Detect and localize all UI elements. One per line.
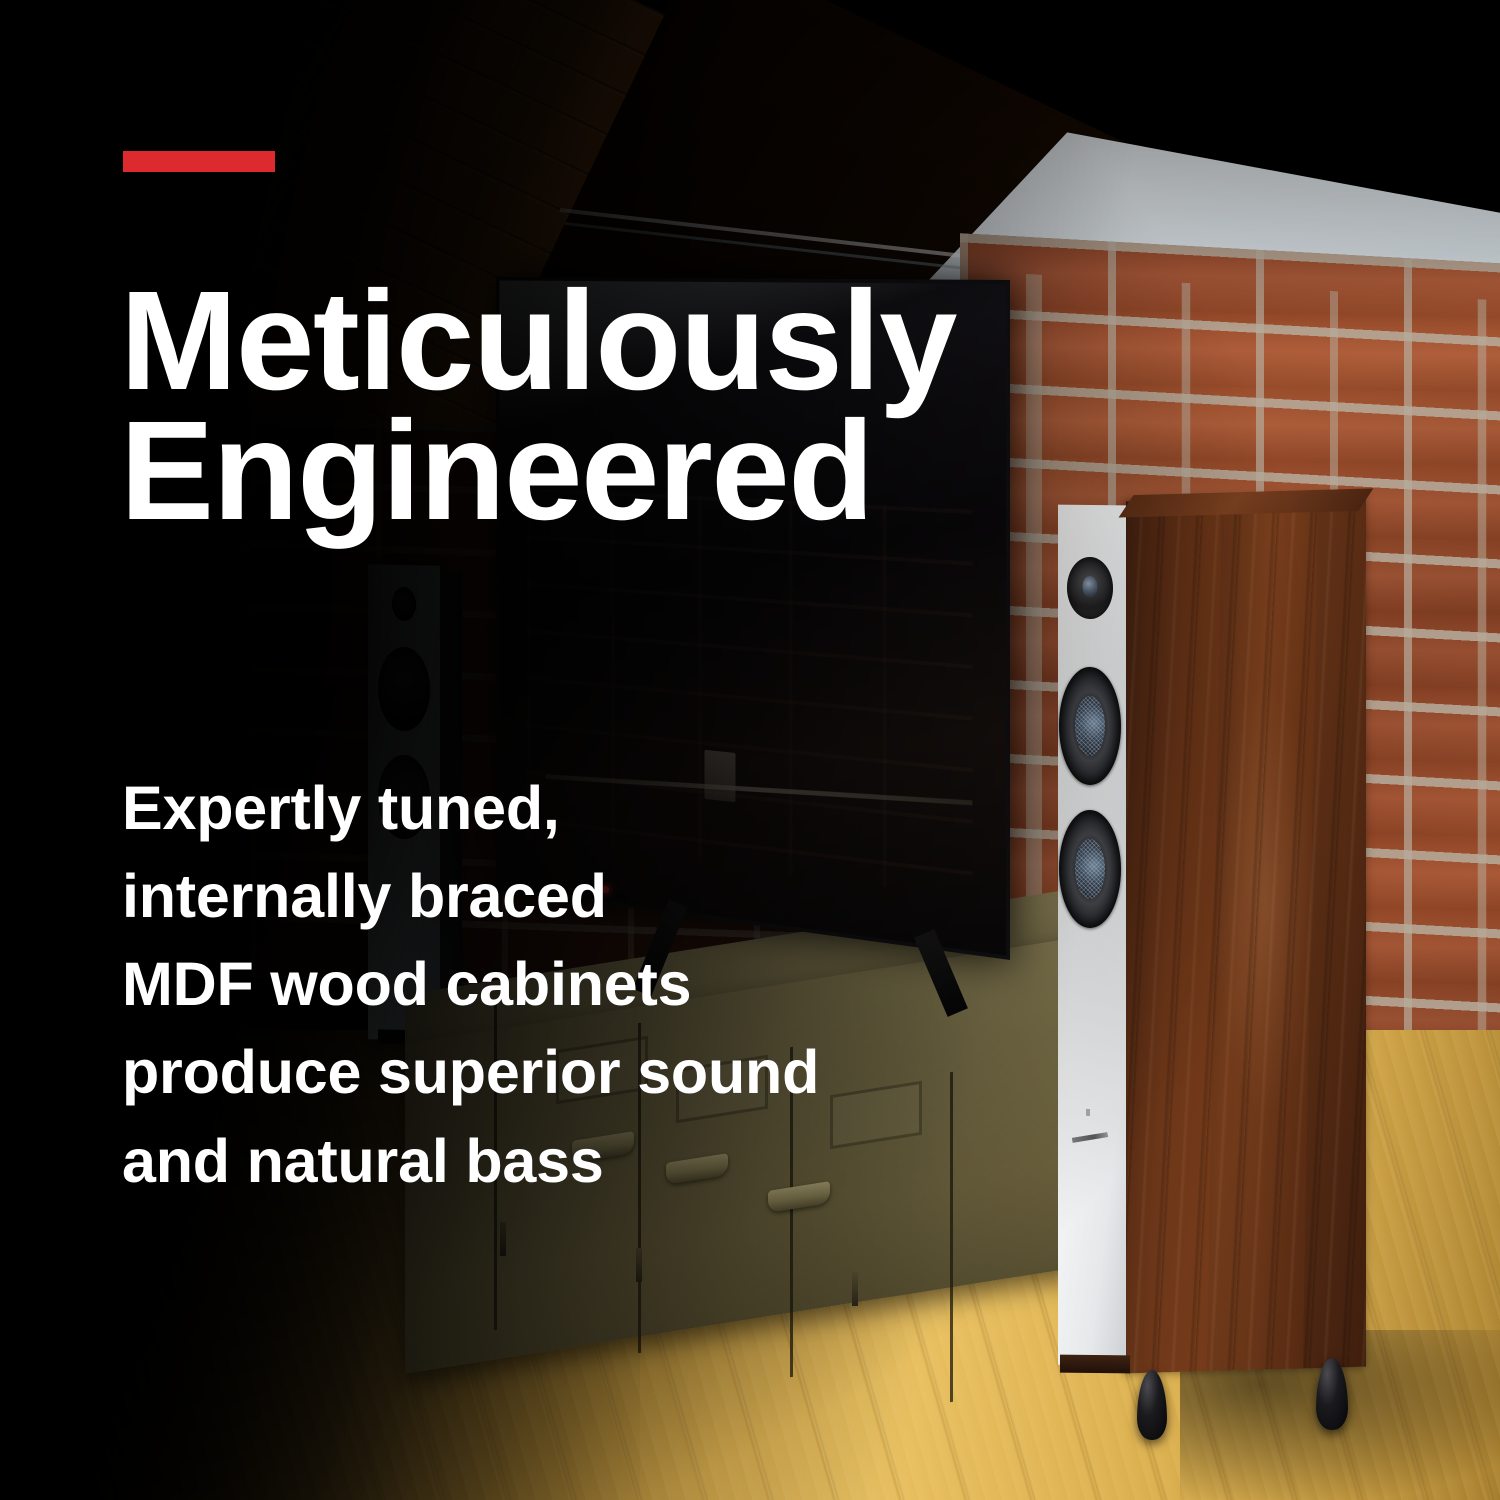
page-title: Meticulously Engineered xyxy=(120,275,1040,536)
ad-banner: Meticulously Engineered Expertly tuned, … xyxy=(0,0,1500,1500)
copy-block: Meticulously Engineered Expertly tuned, … xyxy=(0,0,1500,1500)
subheadline-paragraph: Expertly tuned, internally braced MDF wo… xyxy=(122,764,862,1205)
accent-bar xyxy=(123,151,275,172)
